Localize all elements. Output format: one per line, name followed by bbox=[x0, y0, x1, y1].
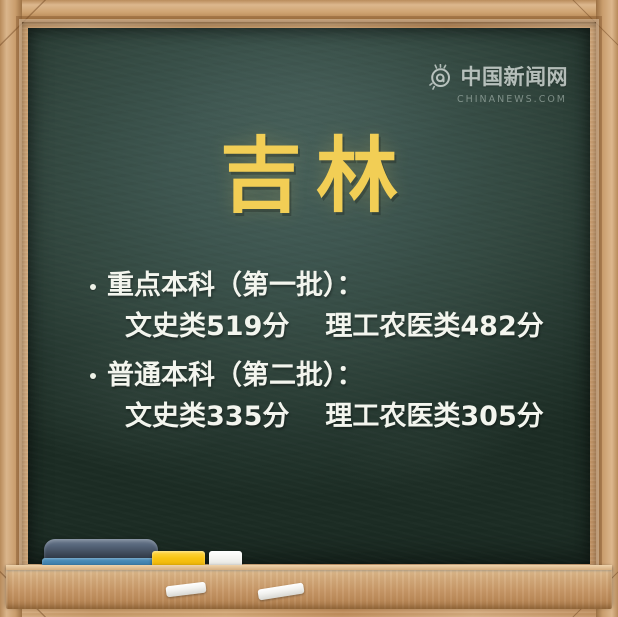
section-second-batch-scores: 文史类335分 理工农医类305分 bbox=[90, 397, 560, 438]
section-first-batch-scores: 文史类519分 理工农医类482分 bbox=[90, 307, 560, 348]
score-science-second-batch: 理工农医类305分 bbox=[325, 397, 543, 438]
watermark-brand-name: 中国新闻网 bbox=[461, 67, 569, 88]
section-second-batch-header: 普通本科（第二批）： bbox=[90, 356, 560, 395]
frame-rail-right bbox=[596, 0, 618, 617]
watermark-logo-row: 中国新闻网 bbox=[429, 64, 569, 91]
watermark-brand-domain: CHINANEWS.COM bbox=[457, 94, 567, 105]
score-liberal-second-batch: 文史类335分 bbox=[125, 397, 289, 438]
section-second-batch-title: 普通本科（第二批）： bbox=[107, 356, 364, 395]
chalk-tray-lip bbox=[6, 565, 612, 570]
bullet-dot-icon bbox=[90, 373, 96, 379]
chalkboard-surface: 中国新闻网 CHINANEWS.COM 吉林 重点本科（第一批）： 文史类519… bbox=[28, 28, 590, 564]
page-title: 吉林 bbox=[28, 136, 590, 218]
bullet-dot-icon bbox=[90, 284, 96, 290]
section-first-batch-title: 重点本科（第一批）： bbox=[107, 266, 364, 305]
section-second-batch: 普通本科（第二批）： 文史类335分 理工农医类305分 bbox=[90, 356, 560, 438]
frame-rail-left bbox=[0, 0, 22, 617]
section-first-batch-header: 重点本科（第一批）： bbox=[90, 266, 560, 305]
chalkboard-poster: 中国新闻网 CHINANEWS.COM 吉林 重点本科（第一批）： 文史类519… bbox=[0, 0, 618, 617]
chalk-tray-ledge bbox=[6, 569, 612, 609]
score-content: 重点本科（第一批）： 文史类519分 理工农医类482分 普通本科（第二批）： … bbox=[90, 266, 560, 445]
at-sign-icon bbox=[429, 64, 456, 91]
section-first-batch: 重点本科（第一批）： 文史类519分 理工农医类482分 bbox=[90, 266, 560, 348]
score-liberal-first-batch: 文史类519分 bbox=[125, 307, 289, 348]
score-science-first-batch: 理工农医类482分 bbox=[325, 307, 543, 348]
frame-rail-top bbox=[0, 0, 618, 22]
watermark-logo: 中国新闻网 CHINANEWS.COM bbox=[429, 64, 569, 105]
